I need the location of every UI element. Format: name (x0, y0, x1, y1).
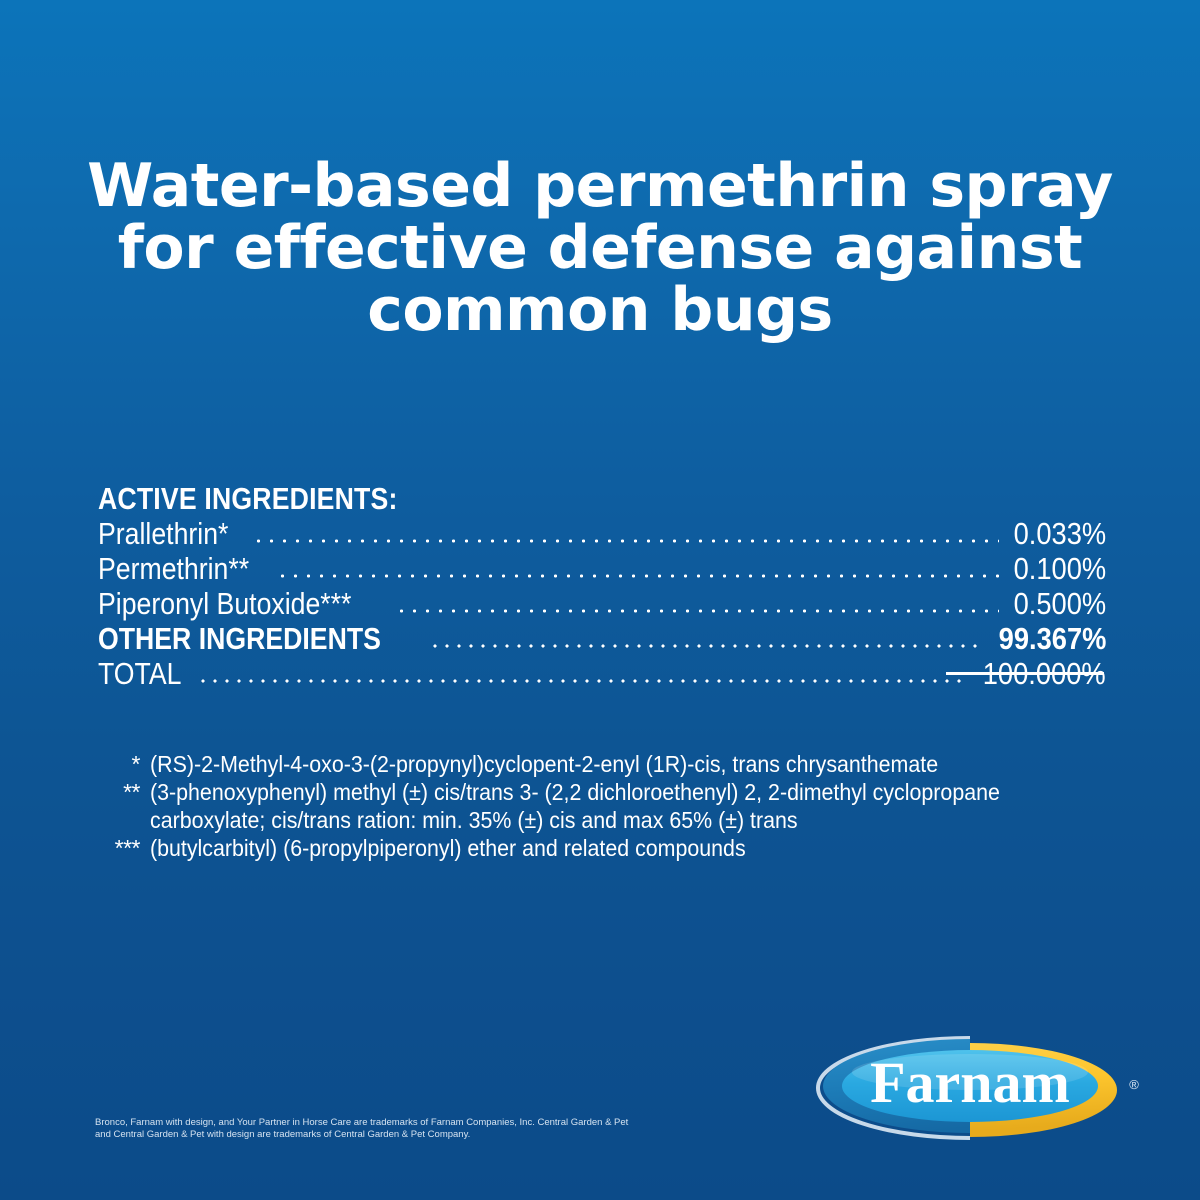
dot-leader (395, 608, 999, 614)
ingredient-name: TOTAL (98, 656, 181, 691)
headline-line-3: common bugs (0, 279, 1200, 341)
logo-wordmark: Farnam (870, 1050, 1070, 1115)
dot-leader (276, 573, 999, 579)
ingredient-name: OTHER INGREDIENTS (98, 621, 381, 656)
ingredient-value: 0.033% (1013, 516, 1106, 551)
footnote-text: (3-phenoxyphenyl) methyl (±) cis/trans 3… (150, 778, 1110, 834)
dot-leader (252, 538, 999, 544)
footnote-text-line: (RS)-2-Methyl-4-oxo-3-(2-propynyl)cyclop… (150, 750, 1043, 778)
ingredient-row-piperonyl-butoxide: Piperonyl Butoxide*** 0.500% (98, 586, 1106, 621)
footnote-marker: *** (100, 834, 150, 862)
headline-line-2: for effective defense against (0, 217, 1200, 279)
product-info-panel: Water-based permethrin spray for effecti… (0, 0, 1200, 1200)
active-ingredients-heading: ACTIVE INGREDIENTS: (98, 482, 965, 516)
ingredient-row-other-ingredients: OTHER INGREDIENTS 99.367% (98, 621, 1106, 656)
footnotes-block: * (RS)-2-Methyl-4-oxo-3-(2-propynyl)cycl… (100, 750, 1110, 862)
legal-line-1: Bronco, Farnam with design, and Your Par… (95, 1117, 615, 1129)
footnote-text-line: (3-phenoxyphenyl) methyl (±) cis/trans 3… (150, 778, 1043, 806)
footnote-text: (RS)-2-Methyl-4-oxo-3-(2-propynyl)cyclop… (150, 750, 1110, 778)
footnote-triple-asterisk: *** (butylcarbityl) (6-propylpiperonyl) … (100, 834, 1110, 862)
footnote-text-line: carboxylate; cis/trans ration: min. 35% … (150, 806, 1043, 834)
ingredient-name: Piperonyl Butoxide*** (98, 586, 351, 621)
farnam-logo: Farnam ® (812, 1032, 1152, 1148)
dot-leader (429, 643, 982, 649)
registered-trademark-icon: ® (1129, 1077, 1139, 1092)
dot-leader (197, 678, 964, 684)
farnam-logo-svg: Farnam ® (812, 1032, 1152, 1148)
footnote-text: (butylcarbityl) (6-propylpiperonyl) ethe… (150, 834, 1110, 862)
page-title: Water-based permethrin spray for effecti… (0, 155, 1200, 341)
footnote-text-line: (butylcarbityl) (6-propylpiperonyl) ethe… (150, 834, 1043, 862)
ingredient-row-prallethrin: Prallethrin* 0.033% (98, 516, 1106, 551)
ingredient-name: Permethrin** (98, 551, 249, 586)
ingredients-table: ACTIVE INGREDIENTS: Prallethrin* 0.033% … (98, 482, 1106, 691)
footnote-marker: * (100, 750, 150, 778)
legal-fine-print: Bronco, Farnam with design, and Your Par… (95, 1117, 615, 1141)
total-divider-rule (946, 672, 1104, 675)
footnote-single-asterisk: * (RS)-2-Methyl-4-oxo-3-(2-propynyl)cycl… (100, 750, 1110, 778)
ingredient-row-permethrin: Permethrin** 0.100% (98, 551, 1106, 586)
footnote-double-asterisk: ** (3-phenoxyphenyl) methyl (±) cis/tran… (100, 778, 1110, 834)
ingredient-name: Prallethrin* (98, 516, 228, 551)
legal-line-2: and Central Garden & Pet with design are… (95, 1129, 615, 1141)
ingredient-value: 99.367% (998, 621, 1106, 656)
headline-line-1: Water-based permethrin spray (0, 155, 1200, 217)
ingredient-value: 0.100% (1013, 551, 1106, 586)
ingredient-value: 0.500% (1013, 586, 1106, 621)
footnote-marker: ** (100, 778, 150, 806)
